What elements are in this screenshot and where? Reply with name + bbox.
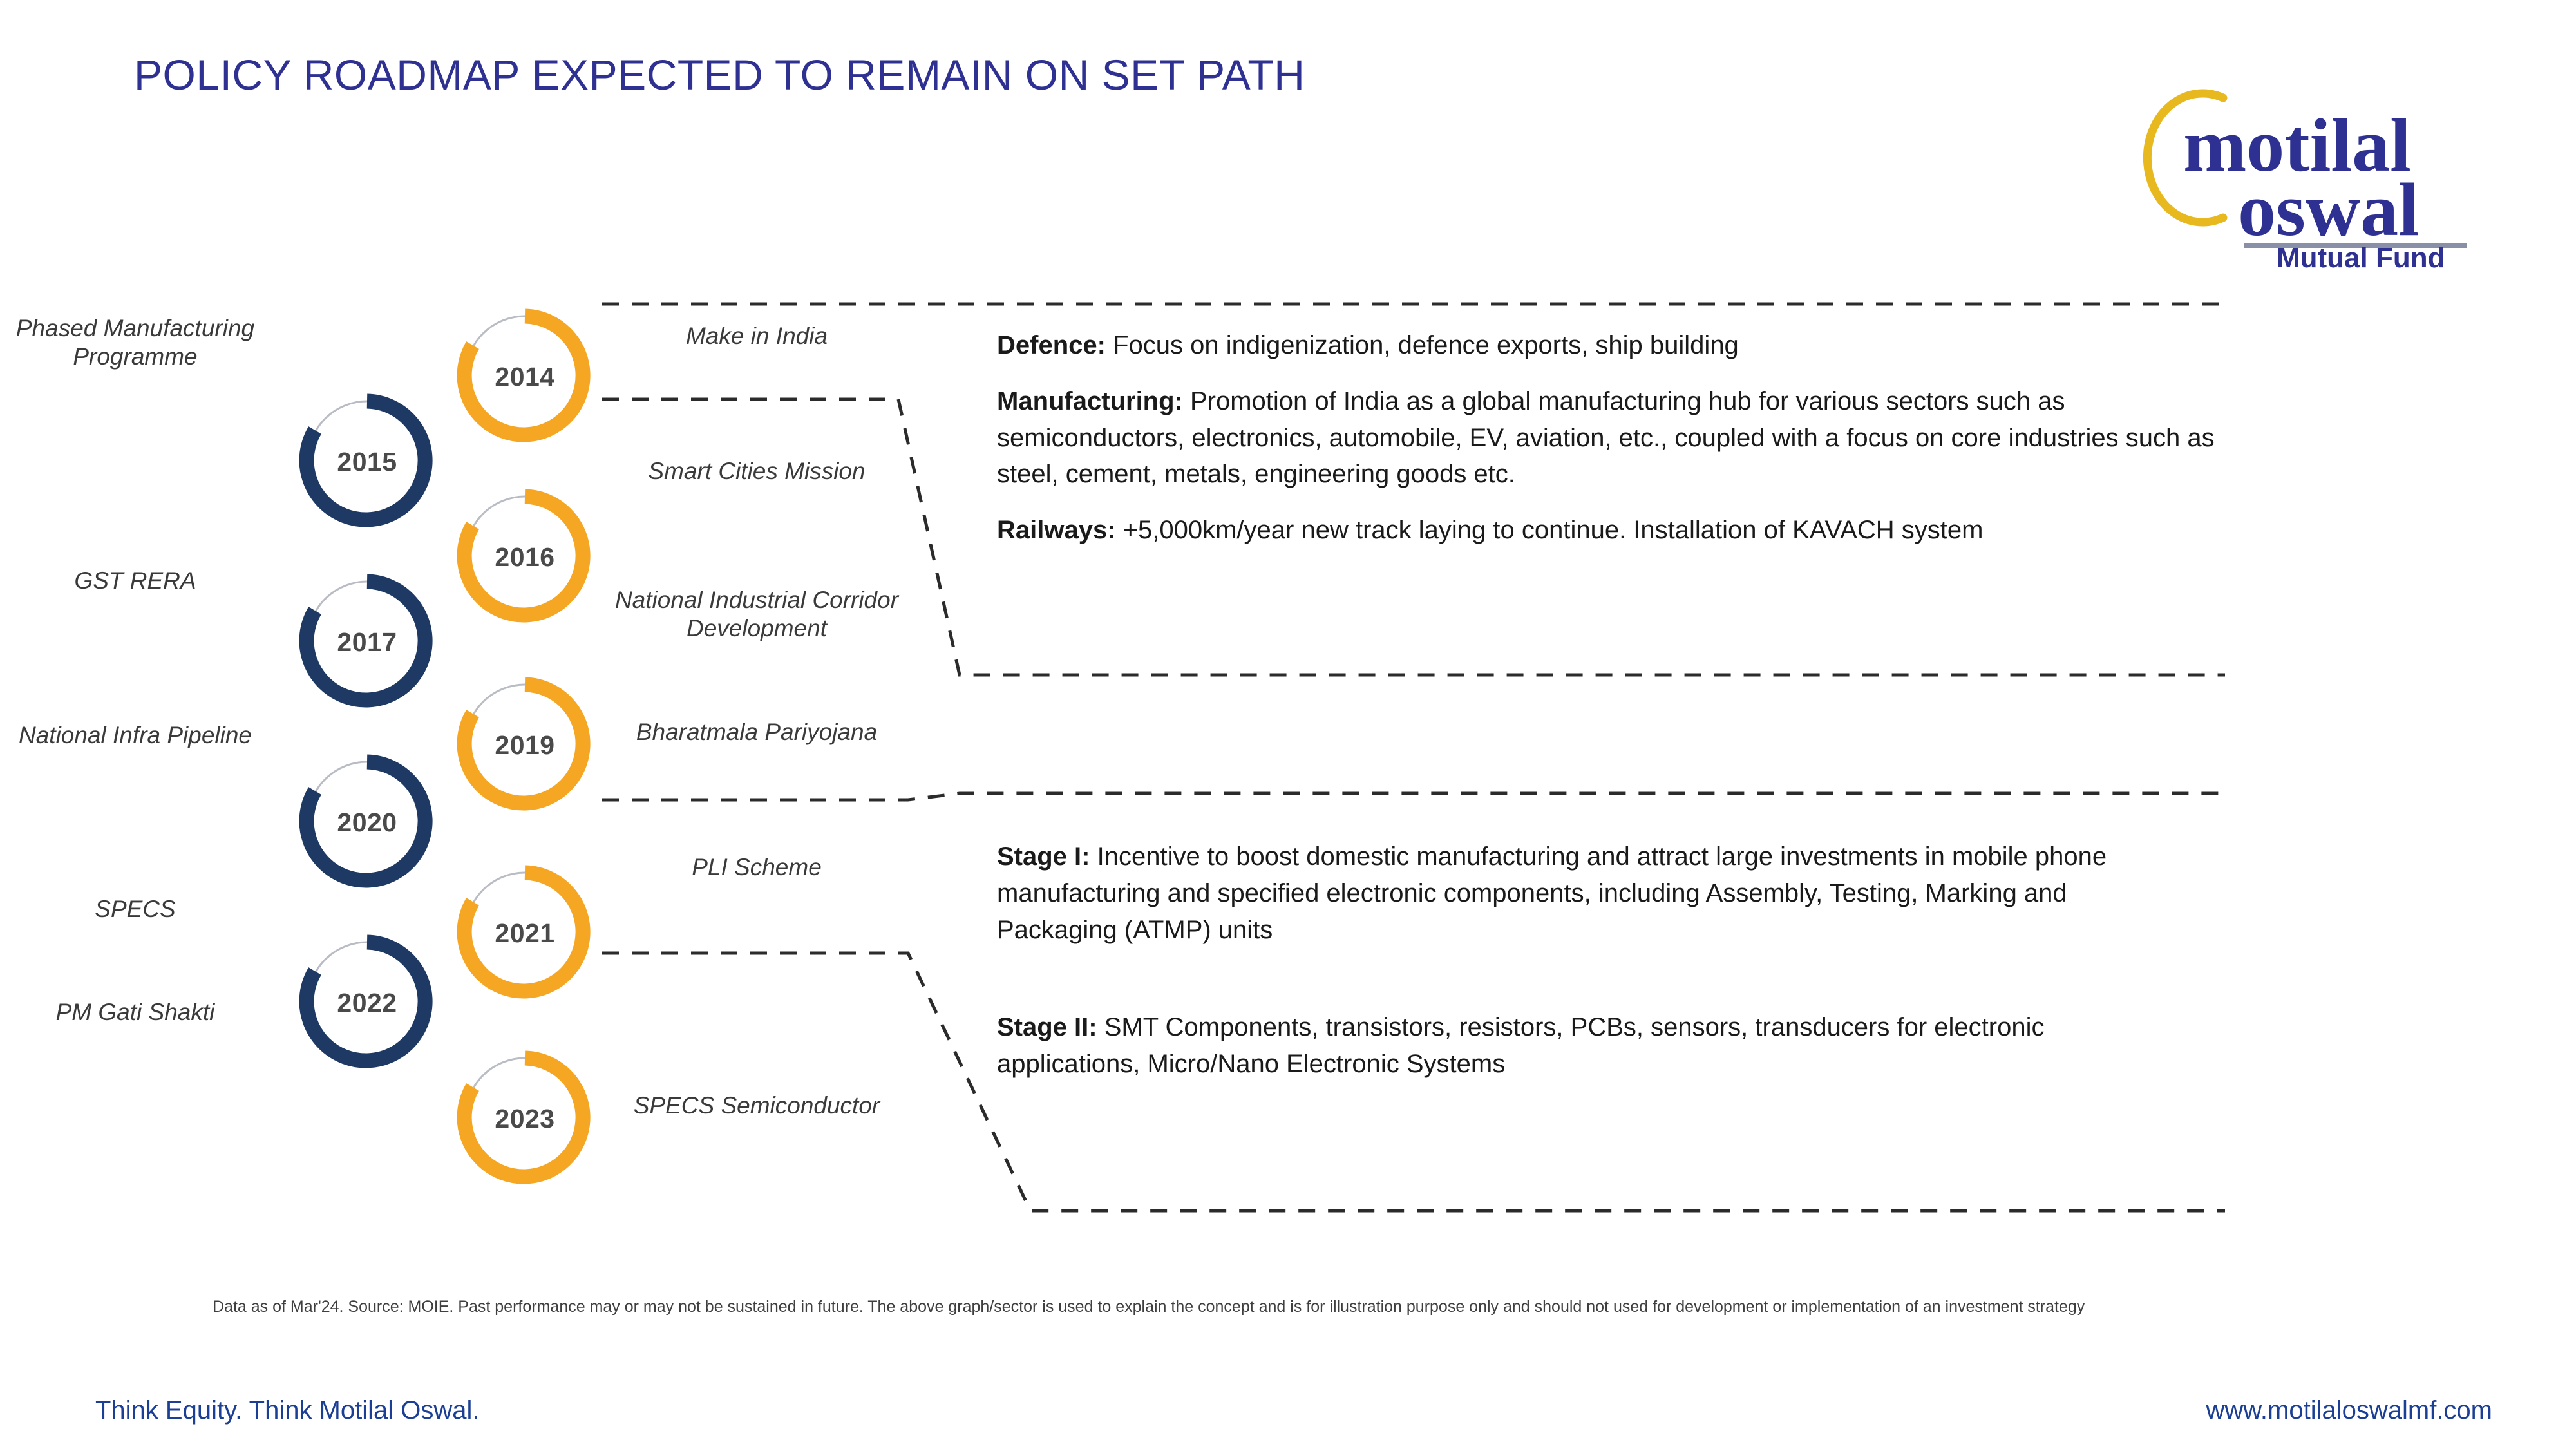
timeline-year-2020: 2020	[287, 808, 448, 838]
policy-paragraph-stage-1: Stage I: Incentive to boost domestic man…	[997, 838, 2169, 948]
timeline-right-label-3: Bharatmala Pariyojana	[589, 718, 924, 746]
disclaimer-footnote: Data as of Mar'24. Source: MOIE. Past pe…	[213, 1294, 2235, 1320]
policy-summary-block-top: Defence: Focus on indigenization, defenc…	[997, 327, 2221, 549]
policy-lead-stage-1: Stage I:	[997, 842, 1090, 871]
logo-word-bottom: oswal	[2238, 167, 2420, 252]
brand-logo: motilal oswal Mutual Fund	[2106, 71, 2518, 270]
logo-artwork: motilal oswal Mutual Fund	[2106, 71, 2518, 270]
timeline-year-2015: 2015	[287, 447, 448, 477]
policy-paragraph-railways: Railways: +5,000km/year new track laying…	[997, 512, 2221, 549]
footer-website-link[interactable]: www.motilaloswalmf.com	[2206, 1396, 2492, 1425]
timeline-left-label-3: SPECS	[0, 895, 270, 923]
policy-body-stage-2: SMT Components, transistors, resistors, …	[997, 1013, 2044, 1078]
timeline-right-label-4: PLI Scheme	[589, 853, 924, 882]
page-title: POLICY ROADMAP EXPECTED TO REMAIN ON SET…	[134, 50, 1305, 99]
policy-body-railways: +5,000km/year new track laying to contin…	[1116, 516, 1984, 544]
timeline-year-2017: 2017	[287, 627, 448, 658]
policy-lead-defence: Defence:	[997, 331, 1106, 359]
timeline-year-2019: 2019	[444, 730, 605, 761]
policy-summary-block-bottom: Stage I: Incentive to boost domestic man…	[997, 838, 2169, 1083]
timeline-year-2021: 2021	[444, 918, 605, 949]
policy-timeline: Phased Manufacturing Programme GST RERA …	[0, 277, 966, 1211]
timeline-left-label-4: PM Gati Shakti	[0, 998, 270, 1027]
footer-tagline: Think Equity. Think Motilal Oswal.	[95, 1396, 480, 1425]
timeline-left-label-2: National Infra Pipeline	[0, 721, 270, 750]
logo-subtitle: Mutual Fund	[2277, 242, 2445, 270]
slide-root: POLICY ROADMAP EXPECTED TO REMAIN ON SET…	[0, 0, 2576, 1449]
policy-paragraph-stage-2: Stage II: SMT Components, transistors, r…	[997, 1009, 2169, 1083]
policy-body-defence: Focus on indigenization, defence exports…	[1106, 331, 1739, 359]
policy-lead-manufacturing: Manufacturing:	[997, 387, 1183, 415]
timeline-year-2023: 2023	[444, 1104, 605, 1134]
timeline-year-2016: 2016	[444, 542, 605, 573]
policy-paragraph-defence: Defence: Focus on indigenization, defenc…	[997, 327, 2221, 364]
timeline-left-label-1: GST RERA	[0, 567, 270, 595]
policy-body-stage-1: Incentive to boost domestic manufacturin…	[997, 842, 2107, 944]
timeline-right-label-5: SPECS Semiconductor	[589, 1092, 924, 1120]
policy-paragraph-manufacturing: Manufacturing: Promotion of India as a g…	[997, 383, 2221, 493]
timeline-year-2022: 2022	[287, 988, 448, 1018]
timeline-right-label-0: Make in India	[589, 322, 924, 350]
policy-lead-stage-2: Stage II:	[997, 1013, 1097, 1041]
timeline-left-label-0: Phased Manufacturing Programme	[0, 314, 270, 372]
timeline-right-label-2: National Industrial Corridor Development	[589, 586, 924, 643]
timeline-year-2014: 2014	[444, 362, 605, 392]
policy-lead-railways: Railways:	[997, 516, 1116, 544]
timeline-right-label-1: Smart Cities Mission	[589, 457, 924, 486]
